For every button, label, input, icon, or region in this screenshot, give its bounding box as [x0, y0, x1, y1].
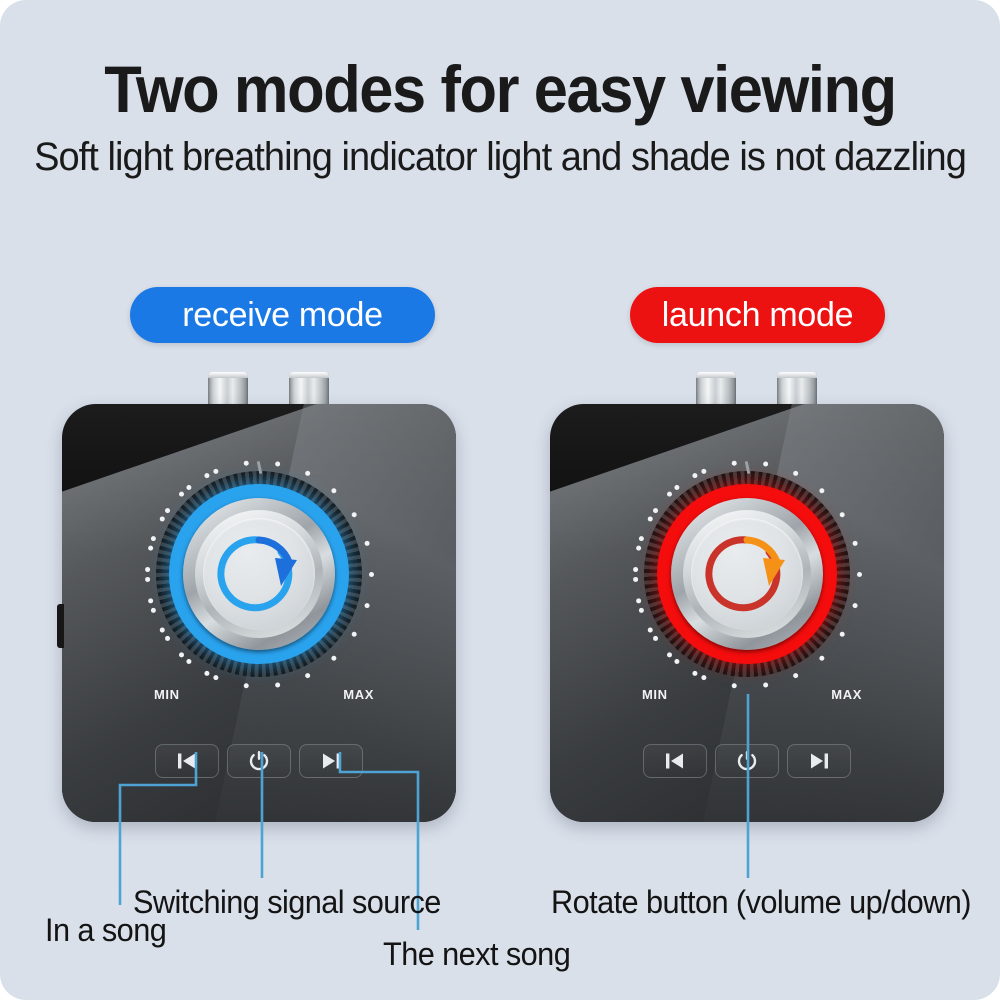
dial-tick [674, 485, 679, 490]
mode-badge-launch: launch mode [630, 287, 885, 343]
rca-jack-icon [777, 372, 817, 408]
dial-tick [852, 540, 857, 545]
dial-tick [731, 683, 736, 688]
dial-tick [638, 536, 643, 541]
dial-tick [145, 576, 150, 581]
power-icon [249, 750, 269, 772]
dial-tick [186, 485, 191, 490]
dial-tick [331, 655, 336, 660]
dial-tick [364, 540, 369, 545]
dial-tick [165, 635, 170, 640]
device-body: MIN MAX [62, 404, 456, 822]
power-button[interactable] [227, 744, 291, 778]
dial-tick [243, 460, 248, 465]
dial-tick [364, 603, 369, 608]
dial-tick [653, 508, 658, 513]
dial-tick [179, 491, 184, 496]
dial-tick [150, 607, 155, 612]
dial-min-label: MIN [642, 687, 668, 702]
dial-tick [857, 572, 862, 577]
dial-tick [204, 473, 209, 478]
dial-tick [159, 627, 164, 632]
power-button[interactable] [715, 744, 779, 778]
rotate-arrow-icon [203, 518, 315, 630]
dial-tick [633, 567, 638, 572]
dial-tick [204, 670, 209, 675]
dial-tick [351, 512, 356, 517]
dial-tick [852, 603, 857, 608]
device-receive-mode: MIN MAX [62, 404, 456, 822]
dial-max-label: MAX [831, 687, 862, 702]
device-body: MIN MAX [550, 404, 944, 822]
dial-tick [667, 491, 672, 496]
dial-tick [653, 635, 658, 640]
rotate-arrow-icon [691, 518, 803, 630]
dial-tick [701, 468, 706, 473]
previous-button[interactable] [155, 744, 219, 778]
side-port [57, 604, 64, 648]
page-subtitle: Soft light breathing indicator light and… [25, 133, 975, 181]
dial-tick [275, 682, 280, 687]
device-launch-mode: MIN MAX [550, 404, 944, 822]
dial-tick [243, 683, 248, 688]
dial-tick [647, 516, 652, 521]
button-bar [643, 744, 851, 778]
dial-tick [633, 576, 638, 581]
dial-tick [763, 682, 768, 687]
dial-tick [819, 488, 824, 493]
rca-jack-icon [289, 372, 329, 408]
dial-tick [275, 461, 280, 466]
dial-tick [159, 516, 164, 521]
dial-tick [150, 536, 155, 541]
callout-label-rotate-button: Rotate button (volume up/down) [551, 884, 971, 921]
dial-max-label: MAX [343, 687, 374, 702]
dial-tick [667, 652, 672, 657]
next-track-icon [320, 751, 342, 771]
previous-track-icon [664, 751, 686, 771]
dial-tick [179, 652, 184, 657]
previous-button[interactable] [643, 744, 707, 778]
dial-tick [351, 631, 356, 636]
dial-tick [636, 545, 641, 550]
dial-tick [213, 468, 218, 473]
rca-jack-icon [208, 372, 248, 408]
dial-tick [819, 655, 824, 660]
dial-tick [369, 572, 374, 577]
infographic-canvas: Two modes for easy viewing Soft light br… [0, 0, 1000, 1000]
button-bar [155, 744, 363, 778]
dial-tick [638, 607, 643, 612]
dial-tick [839, 512, 844, 517]
dial-tick [305, 673, 310, 678]
rca-jack-icon [696, 372, 736, 408]
dial-tick [839, 631, 844, 636]
volume-knob[interactable] [622, 449, 872, 699]
dial-tick [148, 545, 153, 550]
dial-tick [145, 567, 150, 572]
next-track-icon [808, 751, 830, 771]
dial-tick [692, 473, 697, 478]
dial-tick [148, 598, 153, 603]
dial-tick [186, 658, 191, 663]
dial-tick [636, 598, 641, 603]
callout-label-switching-signal-source: Switching signal source [133, 884, 441, 921]
dial-tick [647, 627, 652, 632]
callout-label-the-next-song: The next song [383, 936, 570, 973]
next-button[interactable] [299, 744, 363, 778]
page-title: Two modes for easy viewing [35, 52, 965, 126]
dial-tick [793, 673, 798, 678]
previous-track-icon [176, 751, 198, 771]
dial-tick [674, 658, 679, 663]
dial-tick [692, 670, 697, 675]
mode-badge-receive: receive mode [130, 287, 435, 343]
dial-tick [305, 470, 310, 475]
dial-tick [701, 675, 706, 680]
dial-tick [165, 508, 170, 513]
dial-tick [793, 470, 798, 475]
power-icon [737, 750, 757, 772]
next-button[interactable] [787, 744, 851, 778]
dial-min-label: MIN [154, 687, 180, 702]
dial-tick [731, 460, 736, 465]
volume-knob[interactable] [134, 449, 384, 699]
dial-tick [331, 488, 336, 493]
dial-tick [763, 461, 768, 466]
dial-tick [213, 675, 218, 680]
